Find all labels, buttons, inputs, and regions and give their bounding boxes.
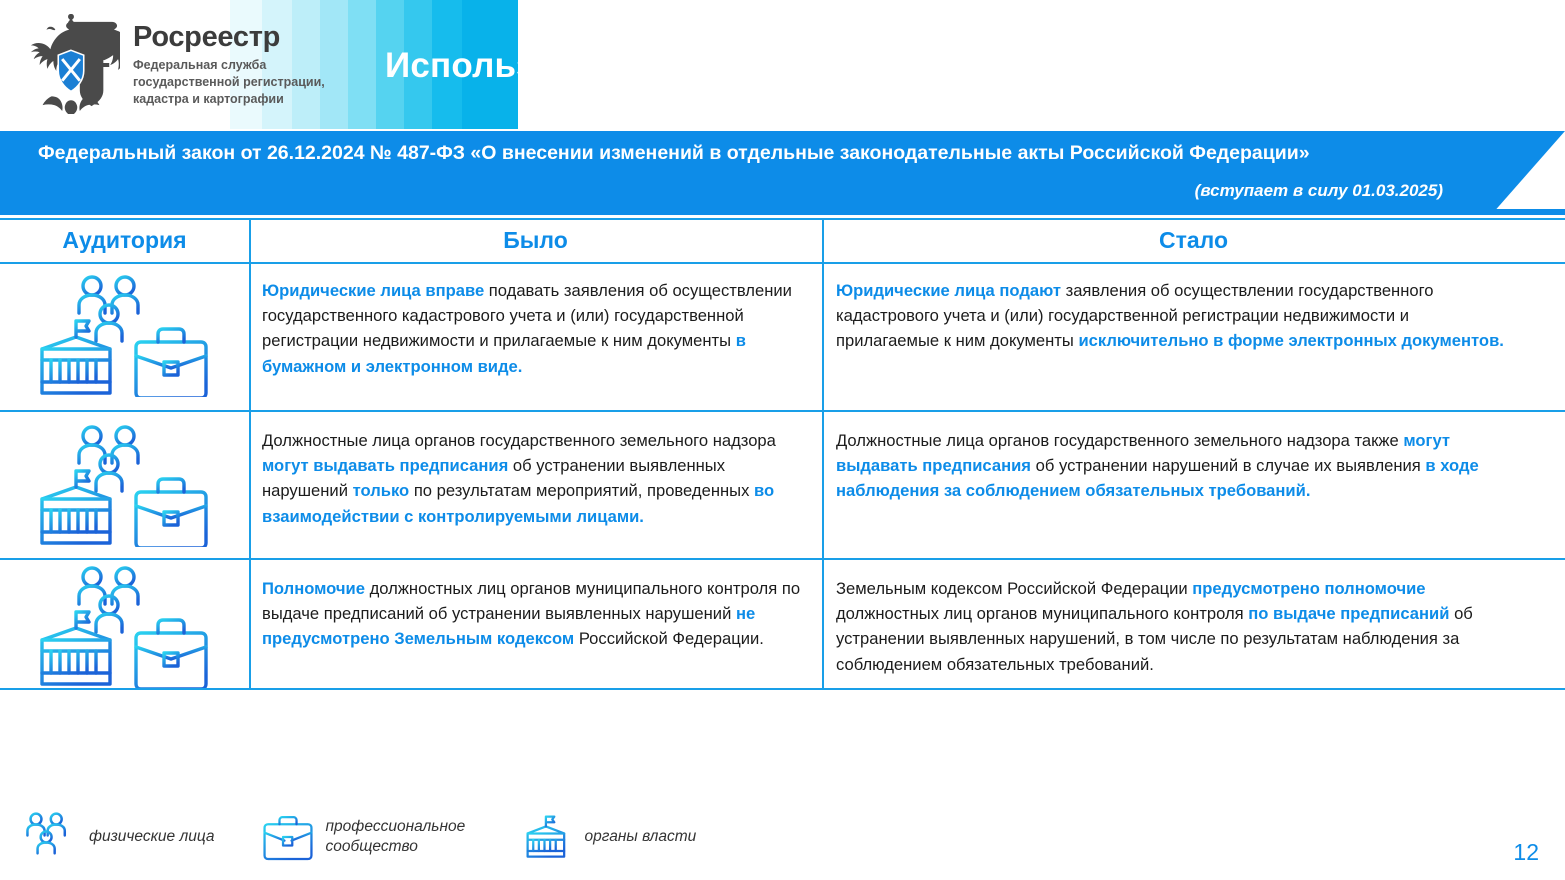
slide-header: Росреестр Федеральная служба государстве… (0, 0, 518, 129)
audience-icon-cluster (26, 272, 226, 397)
legend-item-professional-community: профессиональное сообщество (261, 812, 476, 862)
org-subtitle: Федеральная служба государственной регис… (133, 57, 325, 108)
legend-label-professional-community: профессиональное сообщество (326, 817, 476, 856)
legend-item-individuals: физические лица (22, 812, 215, 862)
effective-date-text: (вступает в силу 01.03.2025) (1195, 181, 1443, 201)
legend-item-authorities: органы власти (522, 812, 697, 862)
org-name: Росреестр (133, 23, 325, 52)
briefcase-icon (261, 812, 315, 862)
cell-before-row-2: Должностные лица органов государственног… (262, 428, 810, 529)
column-header-before: Было (249, 227, 822, 254)
page-number: 12 (1513, 839, 1539, 866)
double-headed-eagle-emblem (22, 14, 120, 114)
cell-before-row-3: Полномочие должностных лиц органов муниц… (262, 576, 810, 652)
table-rule-bottom (0, 688, 1565, 690)
slide-title: Использ (385, 46, 518, 86)
audience-icons-row-1 (26, 272, 226, 397)
audience-icons-row-2 (26, 422, 226, 547)
column-header-audience: Аудитория (0, 227, 249, 254)
people-group-icon (22, 812, 78, 862)
cell-before-row-1: Юридические лица вправе подавать заявлен… (262, 278, 810, 379)
legend-label-authorities: органы власти (585, 827, 697, 847)
audience-icon-cluster (26, 422, 226, 547)
legend-label-individuals: физические лица (89, 827, 215, 847)
org-subtitle-line-3: кадастра и картографии (133, 91, 325, 108)
table-divider-right (822, 218, 824, 688)
audience-icon-cluster (26, 563, 226, 688)
table-rule-top (0, 218, 1565, 220)
rosreestr-logo: Росреестр Федеральная служба государстве… (22, 14, 325, 114)
logo-text-block: Росреестр Федеральная служба государстве… (133, 21, 325, 108)
table-rule-row1 (0, 410, 1565, 412)
org-subtitle-line-2: государственной регистрации, (133, 74, 325, 91)
government-building-icon (522, 812, 574, 862)
cell-after-row-2: Должностные лица органов государственног… (836, 428, 1508, 504)
banner-bottom-strip (0, 209, 1565, 215)
table-divider-left (249, 218, 251, 688)
footer-legend: физические лица профессиональное сообщес… (22, 812, 696, 862)
org-subtitle-line-1: Федеральная служба (133, 57, 325, 74)
cell-after-row-3: Земельным кодексом Российской Федерации … (836, 576, 1526, 677)
audience-icons-row-3 (26, 563, 226, 688)
law-banner: Федеральный закон от 26.12.2024 № 487-ФЗ… (0, 131, 1565, 214)
column-header-after: Стало (822, 227, 1565, 254)
law-reference-text: Федеральный закон от 26.12.2024 № 487-ФЗ… (38, 142, 1310, 165)
table-rule-row2 (0, 558, 1565, 560)
table-rule-header (0, 262, 1565, 264)
cell-after-row-1: Юридические лица подают заявления об осу… (836, 278, 1508, 354)
